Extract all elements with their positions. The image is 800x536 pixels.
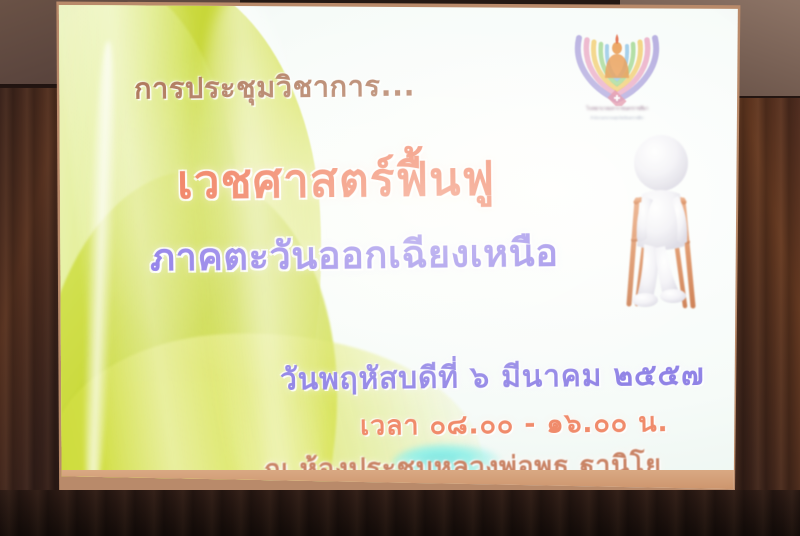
projection-screen: โรงพยาบาลมหาราชนครราชสีมา สำนักงานสาธารณ…: [52, 2, 742, 496]
slide-time-line: เวลา ๐๘.๐๐ - ๑๖.๐๐ น.: [360, 400, 669, 447]
crutches-figure-icon: [597, 128, 737, 318]
slide-date-line: วันพฤหัสบดีที่ ๖ มีนาคม ๒๕๕๗: [280, 351, 705, 403]
figure-head: [634, 135, 688, 191]
organization-logo: โรงพยาบาลมหาราชนครราชสีมา สำนักงานสาธารณ…: [557, 20, 677, 125]
figure-foot-right: [660, 289, 686, 303]
person-with-crutches-figure: [597, 128, 737, 318]
figure-foot-left: [632, 293, 658, 307]
slide-heading: การประชุมวิชาการ...: [134, 63, 415, 112]
photograph: โรงพยาบาลมหาราชนครราชสีมา สำนักงานสาธารณ…: [0, 0, 800, 536]
logo-caption-line-1: โรงพยาบาลมหาราชนครราชสีมา: [557, 105, 677, 113]
curtain-bottom: [0, 490, 800, 536]
slide-main-title: เวชศาสตร์ฟื้นฟู: [177, 142, 496, 219]
curtain-right: [728, 98, 800, 536]
heart-lotus-rainbow-icon: [557, 20, 677, 106]
slide-sub-title: ภาคตะวันออกเฉียงเหนือ: [150, 222, 559, 288]
logo-caption-line-2: สำนักงานสาธารณสุข จังหวัดนครราชสีมา: [557, 115, 677, 121]
